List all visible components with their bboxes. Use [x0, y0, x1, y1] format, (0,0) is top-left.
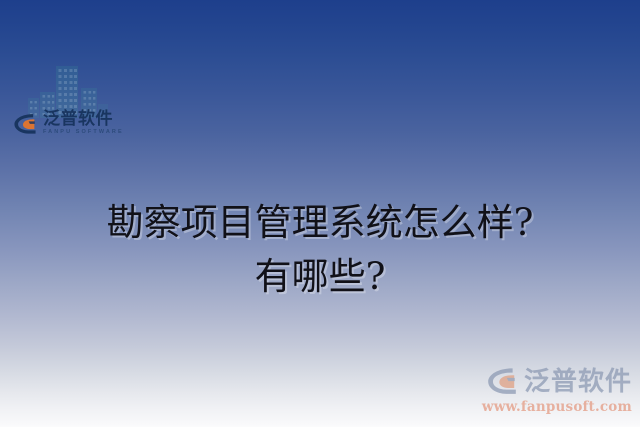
- page-title-line-1: 勘察项目管理系统怎么样?: [0, 196, 640, 250]
- watermark-url: www.fanpusoft.com: [474, 399, 632, 415]
- fanpu-swoosh-watermark-mark-icon: [485, 363, 519, 397]
- page-title-line-2: 有哪些?: [0, 250, 640, 304]
- watermark-logo-row: 泛普软件: [474, 361, 632, 398]
- brand-logo: 泛普软件 FANPU SOFTWARE: [12, 110, 124, 136]
- brand-name-en: FANPU SOFTWARE: [43, 130, 124, 136]
- brand-wordmark: 泛普软件 FANPU SOFTWARE: [43, 111, 124, 136]
- watermark-brand-name: 泛普软件: [524, 361, 632, 398]
- fanpu-swoosh-logo-mark-icon: [12, 110, 38, 136]
- page-title: 勘察项目管理系统怎么样? 有哪些?: [0, 196, 640, 304]
- promo-banner: 泛普软件 FANPU SOFTWARE 勘察项目管理系统怎么样? 有哪些? 泛普…: [0, 0, 640, 427]
- site-watermark: 泛普软件 www.fanpusoft.com: [474, 361, 632, 415]
- brand-name-cn: 泛普软件: [43, 111, 124, 128]
